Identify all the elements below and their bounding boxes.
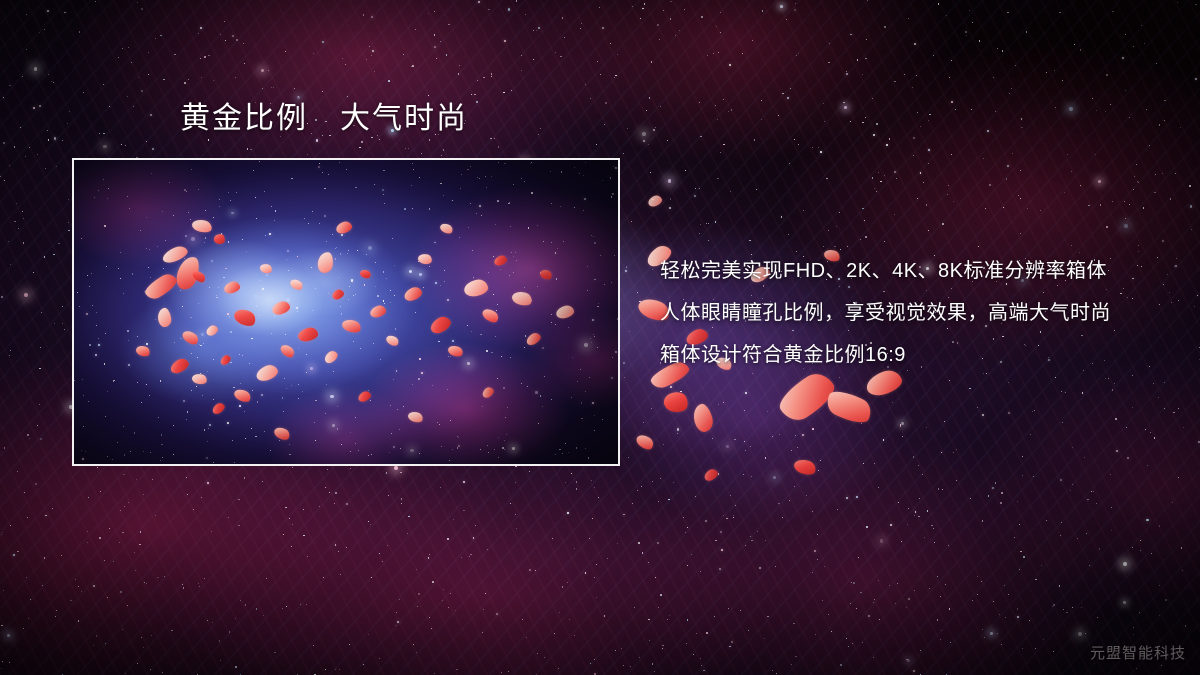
picture-core-glow bbox=[74, 160, 618, 464]
flower-petal bbox=[232, 306, 258, 329]
flower-petal bbox=[157, 307, 173, 328]
flower-petal bbox=[402, 285, 423, 303]
picture-starfield bbox=[74, 160, 618, 464]
flower-petal bbox=[279, 342, 297, 359]
flower-petal bbox=[481, 385, 496, 399]
flower-petal bbox=[297, 326, 319, 343]
flower-petal bbox=[385, 333, 401, 347]
flower-petal bbox=[180, 328, 200, 347]
flower-petal bbox=[792, 457, 817, 477]
watermark-label: 元盟智能科技 bbox=[1090, 642, 1186, 663]
body-line: 箱体设计符合黄金比例16:9 bbox=[660, 340, 1160, 382]
body-text-block: 轻松完美实现FHD、2K、4K、8K标准分辨率箱体 人体眼睛瞳孔比例，享受视觉效… bbox=[660, 256, 1160, 382]
slide-canvas: 黄金比例 大气时尚 轻松完美实现FHD、2K、4K、8K标准分辨率箱体 人体眼睛… bbox=[0, 0, 1200, 675]
page-title: 黄金比例 大气时尚 bbox=[180, 102, 468, 137]
framed-picture bbox=[72, 158, 620, 466]
flower-petal bbox=[254, 363, 279, 384]
flower-petal bbox=[634, 432, 656, 452]
flower-petal bbox=[539, 268, 554, 281]
flower-petal bbox=[289, 277, 305, 292]
flower-petal bbox=[317, 251, 335, 274]
flower-petal bbox=[213, 233, 226, 245]
flower-petal bbox=[191, 218, 213, 234]
flower-petal bbox=[691, 402, 715, 434]
flower-petal bbox=[173, 254, 203, 293]
picture-nebula-magenta bbox=[74, 160, 618, 464]
flower-petal bbox=[702, 467, 719, 483]
body-line: 人体眼睛瞳孔比例，享受视觉效果，高端大气时尚 bbox=[660, 298, 1160, 340]
flower-petal bbox=[369, 304, 387, 319]
flower-petal bbox=[428, 314, 453, 336]
flower-petal bbox=[135, 344, 152, 358]
flower-petal bbox=[357, 390, 373, 404]
flower-petal bbox=[511, 289, 534, 307]
flower-petal bbox=[219, 353, 233, 366]
flower-petal bbox=[322, 349, 339, 365]
flower-petal bbox=[259, 263, 273, 275]
flower-petal bbox=[161, 244, 190, 266]
picture-petal-group bbox=[74, 160, 618, 464]
picture-vignette bbox=[74, 160, 618, 464]
flower-petal bbox=[407, 410, 424, 424]
flower-petal bbox=[417, 253, 433, 266]
flower-petal bbox=[439, 222, 455, 236]
flower-petal bbox=[447, 344, 465, 359]
flower-petal bbox=[647, 194, 664, 209]
flower-petal bbox=[335, 220, 354, 235]
picture-content bbox=[74, 160, 618, 464]
flower-petal bbox=[191, 269, 208, 285]
flower-petal bbox=[341, 317, 363, 334]
body-line: 轻松完美实现FHD、2K、4K、8K标准分辨率箱体 bbox=[660, 256, 1160, 298]
flower-petal bbox=[142, 271, 180, 303]
flower-petal bbox=[662, 390, 690, 415]
flower-petal bbox=[463, 278, 489, 298]
flower-petal bbox=[331, 288, 346, 301]
flower-petal bbox=[191, 373, 208, 386]
flower-petal bbox=[555, 304, 575, 320]
flower-petal bbox=[480, 306, 500, 325]
flower-petal bbox=[271, 300, 292, 317]
flower-petal bbox=[205, 324, 220, 338]
flower-petal bbox=[211, 401, 227, 416]
flower-petal bbox=[223, 280, 241, 295]
flower-petal bbox=[823, 385, 876, 429]
flower-petal bbox=[168, 356, 190, 376]
flower-petal bbox=[524, 331, 542, 347]
flower-petal bbox=[359, 268, 372, 280]
flower-petal bbox=[272, 425, 291, 442]
picture-nebula-base bbox=[74, 160, 618, 464]
picture-nebula-blue bbox=[74, 160, 618, 464]
flower-petal bbox=[232, 387, 252, 404]
flower-petal bbox=[493, 254, 508, 267]
